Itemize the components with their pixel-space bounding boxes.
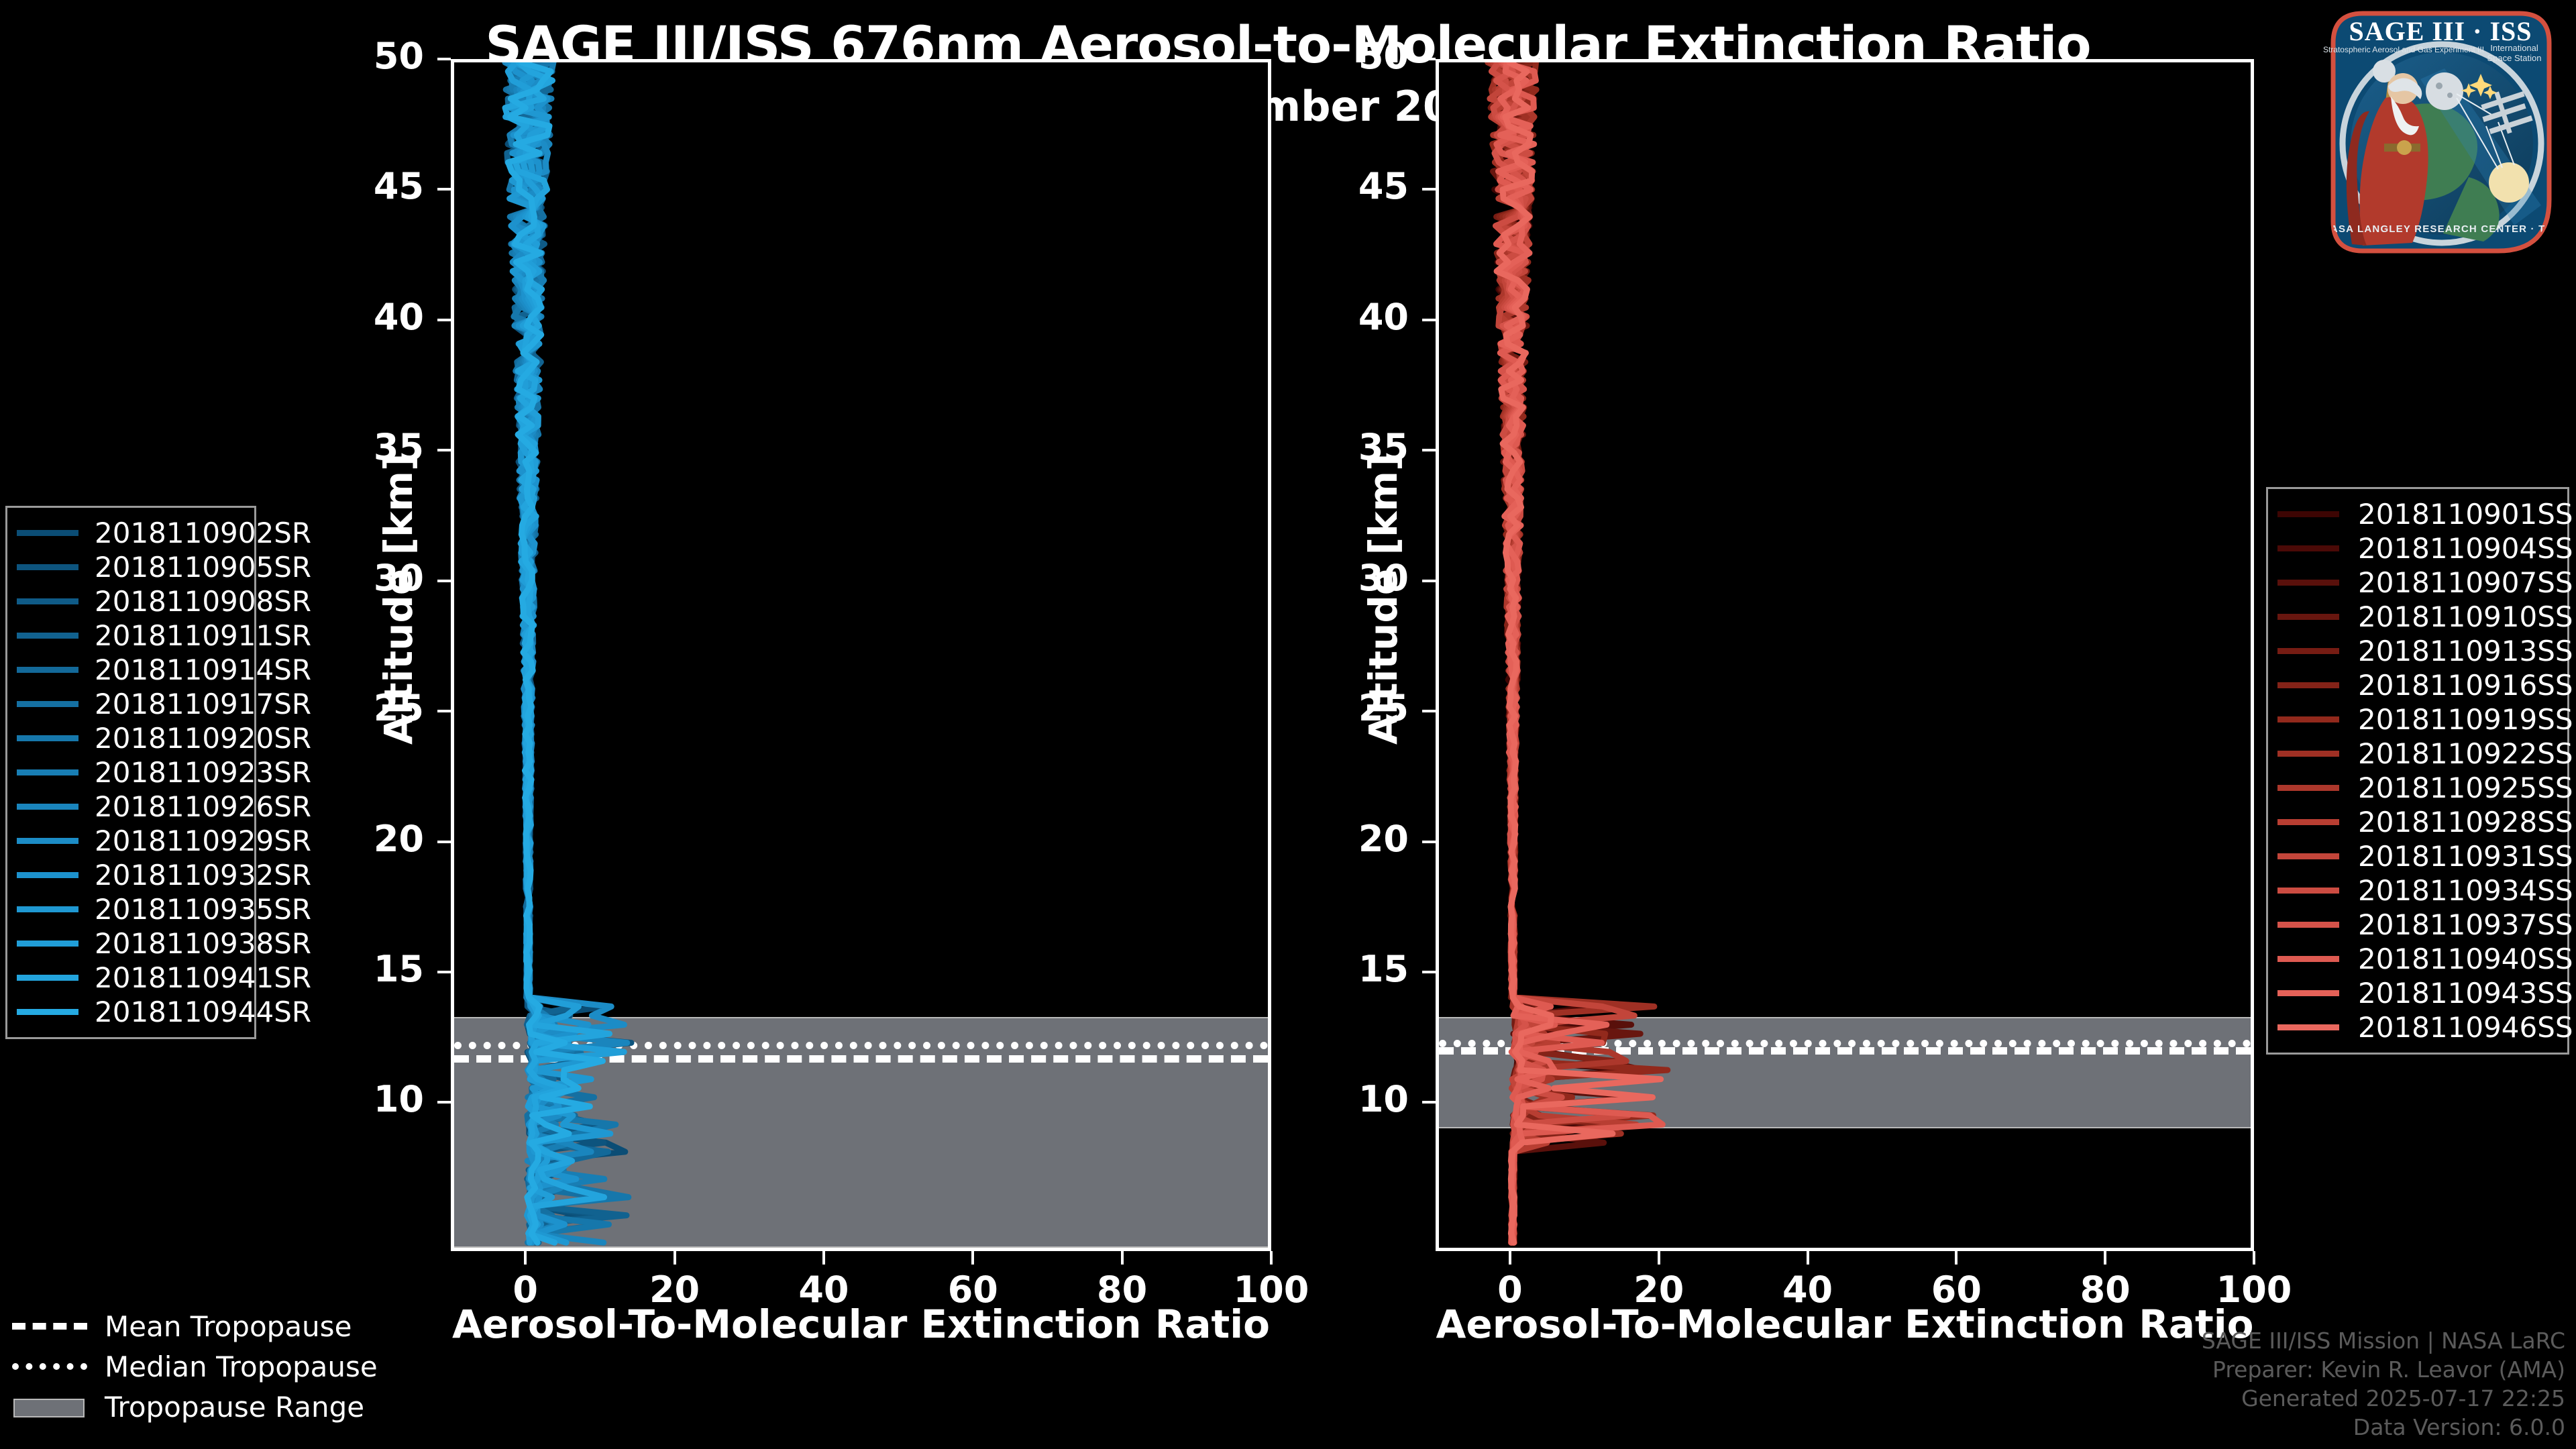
legend-item-2018110929SR[interactable]: 2018110929SR xyxy=(17,824,242,858)
legend-color-swatch-2018110929SR xyxy=(17,838,78,844)
legend-color-swatch-2018110919SS xyxy=(2277,716,2339,722)
y-tick-label-left-45: 45 xyxy=(317,165,424,207)
legend-item-2018110908SR[interactable]: 2018110908SR xyxy=(17,584,242,619)
legend-item-2018110931SS[interactable]: 2018110931SS xyxy=(2277,839,2555,873)
logo-subtitle-right-2: Space Station xyxy=(2487,53,2542,63)
legend-label-2018110932SR: 2018110932SR xyxy=(95,859,311,892)
legend-label-2018110905SR: 2018110905SR xyxy=(95,551,311,584)
legend-color-swatch-2018110901SS xyxy=(2277,511,2339,517)
legend-item-2018110937SS[interactable]: 2018110937SS xyxy=(2277,908,2555,942)
y-tick-label-left-20: 20 xyxy=(317,818,424,860)
legend-label-2018110922SS: 2018110922SS xyxy=(2358,737,2573,770)
series-lines-sunset xyxy=(1439,62,2251,1248)
series-lines-sunrise xyxy=(454,62,1268,1248)
x-tick-right-20 xyxy=(1658,1251,1660,1265)
legend-label-mean-tropopause: Mean Tropopause xyxy=(105,1310,352,1343)
legend-item-2018110904SS[interactable]: 2018110904SS xyxy=(2277,531,2555,566)
legend-label-2018110931SS: 2018110931SS xyxy=(2358,840,2573,873)
y-tick-label-right-50: 50 xyxy=(1301,35,1409,77)
y-tick-label-left-10: 10 xyxy=(317,1078,424,1120)
x-tick-right-0 xyxy=(1509,1251,1511,1265)
x-axis-title-sunset: Aerosol-To-Molecular Extinction Ratio xyxy=(1436,1301,2254,1347)
legend-item-2018110913SS[interactable]: 2018110913SS xyxy=(2277,634,2555,668)
legend-item-2018110928SS[interactable]: 2018110928SS xyxy=(2277,805,2555,839)
legend-item-2018110901SS[interactable]: 2018110901SS xyxy=(2277,497,2555,531)
y-tick-right-25 xyxy=(1422,710,1436,712)
dashed-line-icon xyxy=(12,1317,87,1336)
legend-color-swatch-2018110904SS xyxy=(2277,545,2339,551)
credit-line-preparer: Preparer: Kevin R. Leavor (AMA) xyxy=(2202,1356,2565,1385)
legend-label-2018110920SR: 2018110920SR xyxy=(95,722,311,755)
legend-label-2018110929SR: 2018110929SR xyxy=(95,824,311,857)
legend-item-2018110926SR[interactable]: 2018110926SR xyxy=(17,790,242,824)
y-tick-label-left-40: 40 xyxy=(317,296,424,338)
legend-item-2018110946SS[interactable]: 2018110946SS xyxy=(2277,1010,2555,1044)
legend-color-swatch-2018110937SS xyxy=(2277,922,2339,928)
y-tick-label-right-45: 45 xyxy=(1301,165,1409,207)
legend-label-median-tropopause: Median Tropopause xyxy=(105,1350,378,1383)
legend-color-swatch-2018110920SR xyxy=(17,735,78,741)
plot-area-sunrise xyxy=(451,59,1271,1251)
legend-color-swatch-2018110913SS xyxy=(2277,648,2339,654)
filled-rectangle-icon xyxy=(12,1397,87,1416)
x-tick-right-100 xyxy=(2253,1251,2255,1265)
legend-color-swatch-2018110914SR xyxy=(17,667,78,673)
logo-subtitle-left: Stratospheric Aerosol and Gas Experiment… xyxy=(2323,45,2484,54)
logo-subtitle-right-1: International xyxy=(2490,43,2538,53)
legend-label-2018110914SR: 2018110914SR xyxy=(95,653,311,686)
legend-color-swatch-2018110917SR xyxy=(17,701,78,707)
legend-label-2018110901SS: 2018110901SS xyxy=(2358,498,2573,531)
legend-label-2018110943SS: 2018110943SS xyxy=(2358,977,2573,1010)
legend-item-2018110932SR[interactable]: 2018110932SR xyxy=(17,858,242,892)
legend-color-swatch-2018110946SS xyxy=(2277,1024,2339,1030)
credits-block: SAGE III/ISS Mission | NASA LaRC Prepare… xyxy=(2202,1327,2565,1442)
logo-title: SAGE III · ISS xyxy=(2349,16,2532,46)
legend-label-tropopause-range: Tropopause Range xyxy=(105,1391,364,1424)
legend-color-swatch-2018110928SS xyxy=(2277,819,2339,825)
legend-color-swatch-2018110926SR xyxy=(17,804,78,810)
x-tick-left-100 xyxy=(1270,1251,1273,1265)
y-tick-right-15 xyxy=(1422,971,1436,973)
x-tick-left-40 xyxy=(822,1251,825,1265)
legend-item-2018110940SS[interactable]: 2018110940SS xyxy=(2277,942,2555,976)
legend-label-2018110941SR: 2018110941SR xyxy=(95,961,311,994)
legend-item-2018110938SR[interactable]: 2018110938SR xyxy=(17,926,242,961)
legend-item-2018110944SR[interactable]: 2018110944SR xyxy=(17,995,242,1029)
legend-label-2018110904SS: 2018110904SS xyxy=(2358,532,2573,565)
legend-sunset[interactable]: 2018110901SS2018110904SS2018110907SS2018… xyxy=(2266,487,2569,1055)
legend-item-2018110914SR[interactable]: 2018110914SR xyxy=(17,653,242,687)
legend-label-2018110913SS: 2018110913SS xyxy=(2358,635,2573,667)
legend-item-2018110935SR[interactable]: 2018110935SR xyxy=(17,892,242,926)
legend-color-swatch-2018110908SR xyxy=(17,598,78,604)
y-tick-label-right-10: 10 xyxy=(1301,1078,1409,1120)
legend-label-2018110907SS: 2018110907SS xyxy=(2358,566,2573,599)
legend-color-swatch-2018110943SS xyxy=(2277,990,2339,996)
tropopause-legend: Mean Tropopause Median Tropopause Tropop… xyxy=(12,1309,378,1430)
legend-color-swatch-2018110923SR xyxy=(17,769,78,775)
legend-item-2018110916SS[interactable]: 2018110916SS xyxy=(2277,668,2555,702)
legend-item-2018110905SR[interactable]: 2018110905SR xyxy=(17,550,242,584)
x-tick-left-60 xyxy=(971,1251,974,1265)
y-tick-right-40 xyxy=(1422,319,1436,321)
legend-color-swatch-2018110940SS xyxy=(2277,956,2339,962)
legend-label-2018110910SS: 2018110910SS xyxy=(2358,600,2573,633)
legend-item-2018110922SS[interactable]: 2018110922SS xyxy=(2277,737,2555,771)
legend-color-swatch-2018110944SR xyxy=(17,1009,78,1015)
legend-color-swatch-2018110925SS xyxy=(2277,785,2339,791)
legend-item-2018110911SR[interactable]: 2018110911SR xyxy=(17,619,242,653)
legend-color-swatch-2018110941SR xyxy=(17,975,78,981)
legend-label-2018110923SR: 2018110923SR xyxy=(95,756,311,789)
y-axis-title-sunset: Altitude [km] xyxy=(1360,453,1406,745)
legend-item-2018110917SR[interactable]: 2018110917SR xyxy=(17,687,242,721)
logo-ring-text: BALL · NASA LANGLEY RESEARCH CENTER · TA… xyxy=(2313,223,2569,235)
y-tick-right-50 xyxy=(1422,58,1436,60)
y-tick-label-right-20: 20 xyxy=(1301,818,1409,860)
legend-label-2018110908SR: 2018110908SR xyxy=(95,585,311,618)
legend-label-2018110919SS: 2018110919SS xyxy=(2358,703,2573,736)
legend-label-2018110902SR: 2018110902SR xyxy=(95,517,311,549)
y-tick-left-30 xyxy=(437,580,451,582)
legend-color-swatch-2018110902SR xyxy=(17,530,78,536)
y-tick-right-10 xyxy=(1422,1101,1436,1104)
legend-label-2018110934SS: 2018110934SS xyxy=(2358,874,2573,907)
y-tick-left-50 xyxy=(437,58,451,60)
legend-label-2018110911SR: 2018110911SR xyxy=(95,619,311,652)
x-tick-left-20 xyxy=(674,1251,676,1265)
legend-item-mean-tropopause: Mean Tropopause xyxy=(12,1309,378,1343)
legend-color-swatch-2018110931SS xyxy=(2277,853,2339,859)
y-tick-right-35 xyxy=(1422,449,1436,451)
x-tick-right-60 xyxy=(1955,1251,1957,1265)
legend-item-2018110943SS[interactable]: 2018110943SS xyxy=(2277,976,2555,1010)
legend-item-2018110923SR[interactable]: 2018110923SR xyxy=(17,755,242,790)
y-tick-left-10 xyxy=(437,1101,451,1104)
legend-label-2018110940SS: 2018110940SS xyxy=(2358,943,2573,975)
legend-item-tropopause-range: Tropopause Range xyxy=(12,1390,378,1424)
legend-color-swatch-2018110922SS xyxy=(2277,751,2339,757)
legend-label-2018110938SR: 2018110938SR xyxy=(95,927,311,960)
legend-color-swatch-2018110905SR xyxy=(17,564,78,570)
x-axis-title-sunrise: Aerosol-To-Molecular Extinction Ratio xyxy=(451,1301,1271,1347)
y-tick-label-right-15: 15 xyxy=(1301,948,1409,990)
legend-color-swatch-2018110934SS xyxy=(2277,888,2339,894)
y-tick-left-25 xyxy=(437,710,451,712)
x-tick-right-80 xyxy=(2104,1251,2106,1265)
y-tick-left-35 xyxy=(437,449,451,451)
dotted-line-icon xyxy=(12,1357,87,1376)
plot-area-sunset xyxy=(1436,59,2254,1251)
legend-color-swatch-2018110935SR xyxy=(17,906,78,912)
credit-line-data-version: Data Version: 6.0.0 xyxy=(2202,1413,2565,1442)
y-tick-left-45 xyxy=(437,188,451,191)
legend-item-2018110907SS[interactable]: 2018110907SS xyxy=(2277,566,2555,600)
legend-sunrise[interactable]: 2018110902SR2018110905SR2018110908SR2018… xyxy=(5,506,256,1039)
legend-item-2018110910SS[interactable]: 2018110910SS xyxy=(2277,600,2555,634)
sage-iii-iss-mission-patch-logo: BALL · NASA LANGLEY RESEARCH CENTER · TA… xyxy=(2313,4,2569,260)
x-tick-left-80 xyxy=(1121,1251,1124,1265)
legend-label-2018110916SS: 2018110916SS xyxy=(2358,669,2573,702)
legend-label-2018110926SR: 2018110926SR xyxy=(95,790,311,823)
y-tick-label-right-40: 40 xyxy=(1301,296,1409,338)
legend-label-2018110946SS: 2018110946SS xyxy=(2358,1011,2573,1044)
legend-color-swatch-2018110932SR xyxy=(17,872,78,878)
legend-label-2018110935SR: 2018110935SR xyxy=(95,893,311,926)
legend-item-2018110920SR[interactable]: 2018110920SR xyxy=(17,721,242,755)
credit-line-mission: SAGE III/ISS Mission | NASA LaRC xyxy=(2202,1327,2565,1356)
y-tick-left-40 xyxy=(437,319,451,321)
y-tick-right-45 xyxy=(1422,188,1436,191)
y-tick-label-left-50: 50 xyxy=(317,35,424,77)
legend-color-swatch-2018110938SR xyxy=(17,941,78,947)
legend-color-swatch-2018110916SS xyxy=(2277,682,2339,688)
legend-color-swatch-2018110907SS xyxy=(2277,580,2339,586)
legend-item-2018110919SS[interactable]: 2018110919SS xyxy=(2277,702,2555,737)
y-tick-label-left-15: 15 xyxy=(317,948,424,990)
x-tick-right-40 xyxy=(1807,1251,1809,1265)
y-tick-right-30 xyxy=(1422,580,1436,582)
legend-item-median-tropopause: Median Tropopause xyxy=(12,1350,378,1383)
x-tick-left-0 xyxy=(524,1251,527,1265)
legend-item-2018110902SR[interactable]: 2018110902SR xyxy=(17,516,242,550)
legend-label-2018110944SR: 2018110944SR xyxy=(95,996,311,1028)
legend-color-swatch-2018110910SS xyxy=(2277,614,2339,620)
legend-item-2018110925SS[interactable]: 2018110925SS xyxy=(2277,771,2555,805)
legend-label-2018110937SS: 2018110937SS xyxy=(2358,908,2573,941)
legend-item-2018110941SR[interactable]: 2018110941SR xyxy=(17,961,242,995)
y-axis-title-sunrise: Altitude [km] xyxy=(376,453,421,745)
legend-label-2018110925SS: 2018110925SS xyxy=(2358,771,2573,804)
legend-label-2018110917SR: 2018110917SR xyxy=(95,688,311,720)
y-tick-right-20 xyxy=(1422,841,1436,843)
legend-label-2018110928SS: 2018110928SS xyxy=(2358,806,2573,839)
legend-item-2018110934SS[interactable]: 2018110934SS xyxy=(2277,873,2555,908)
y-tick-left-15 xyxy=(437,971,451,973)
credit-line-generated: Generated 2025-07-17 22:25 xyxy=(2202,1385,2565,1413)
y-tick-left-20 xyxy=(437,841,451,843)
legend-color-swatch-2018110911SR xyxy=(17,633,78,639)
